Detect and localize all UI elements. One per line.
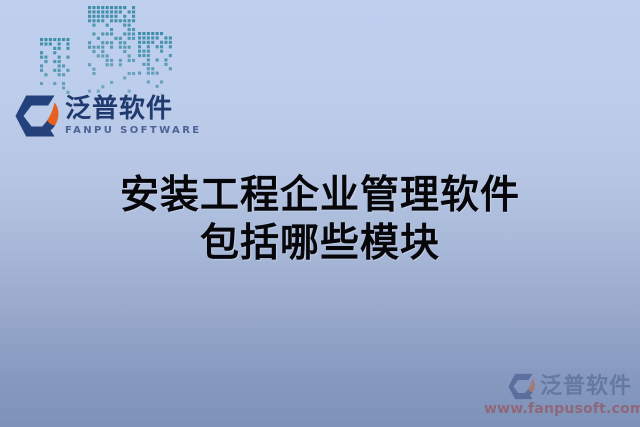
brand-logo: 泛普软件 FANPU SOFTWARE bbox=[14, 94, 202, 138]
promo-banner: 泛普软件 FANPU SOFTWARE 安装工程企业管理软件 包括哪些模块 泛普… bbox=[0, 0, 640, 427]
fanpu-hexagon-logo-icon bbox=[14, 94, 61, 138]
watermark-url: www.fanpusoft.com bbox=[484, 401, 632, 417]
brand-name-cn: 泛普软件 bbox=[65, 95, 202, 123]
watermark: 泛普软件 www.fanpusoft.com bbox=[484, 373, 632, 417]
page-title: 安装工程企业管理软件 包括哪些模块 bbox=[0, 172, 640, 268]
fanpu-hexagon-logo-watermark-icon bbox=[507, 373, 537, 400]
watermark-logo-row: 泛普软件 bbox=[484, 373, 632, 400]
brand-name-en: FANPU SOFTWARE bbox=[65, 124, 202, 137]
pixel-city-skyline-graphic bbox=[40, 2, 172, 94]
page-title-line-2: 包括哪些模块 bbox=[0, 220, 640, 268]
page-title-line-1: 安装工程企业管理软件 bbox=[0, 172, 640, 220]
watermark-name-cn: 泛普软件 bbox=[540, 375, 632, 399]
brand-wordmark: 泛普软件 FANPU SOFTWARE bbox=[65, 95, 202, 137]
